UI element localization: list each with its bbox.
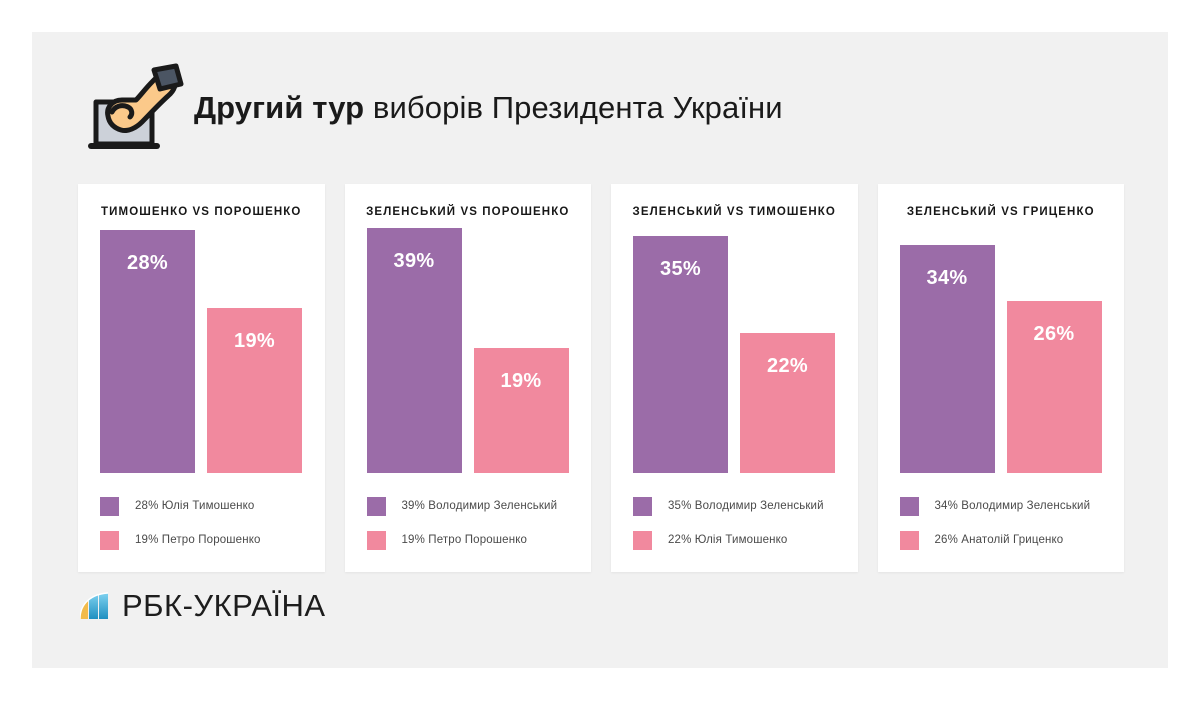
bar-rect-purple[interactable]: 34% <box>900 245 995 473</box>
bar-group: 34% <box>900 245 995 473</box>
legend-item: 19% Петро Порошенко <box>100 523 309 557</box>
legend: 34% Володимир Зеленський 26% Анатолій Гр… <box>900 489 1109 557</box>
bar-value-label: 35% <box>633 258 728 281</box>
legend-label: 26% Анатолій Гриценко <box>935 534 1064 546</box>
bar-rect-purple[interactable]: 39% <box>367 228 462 473</box>
legend-item: 39% Володимир Зеленський <box>367 489 576 523</box>
legend-label: 35% Володимир Зеленський <box>668 500 824 512</box>
panels-row: ТИМОШЕНКО VS ПОРОШЕНКО 28% 19% <box>78 184 1124 572</box>
ballot-box-hand-icon <box>80 60 184 156</box>
legend-swatch-pink <box>633 531 652 550</box>
logo-text: РБК-УКРАЇНА <box>122 588 326 624</box>
bar-chart: 35% 22% <box>633 228 836 473</box>
panel-zelensky-vs-poroshenko: ЗЕЛЕНСЬКИЙ VS ПОРОШЕНКО 39% 19% <box>345 184 592 572</box>
bar-group: 26% <box>1007 301 1102 473</box>
bar-group: 19% <box>207 308 302 473</box>
bar-value-label: 34% <box>900 267 995 290</box>
panel-title: ТИМОШЕНКО VS ПОРОШЕНКО <box>78 206 325 218</box>
legend: 35% Володимир Зеленський 22% Юлія Тимоше… <box>633 489 842 557</box>
bar-rect-pink[interactable]: 22% <box>740 333 835 473</box>
page-title-rest: виборів Президента України <box>364 90 782 125</box>
legend-label: 39% Володимир Зеленський <box>402 500 558 512</box>
bar-rect-purple[interactable]: 35% <box>633 236 728 473</box>
bar-value-label: 28% <box>100 252 195 275</box>
legend-swatch-pink <box>367 531 386 550</box>
legend-item: 19% Петро Порошенко <box>367 523 576 557</box>
bar-group: 35% <box>633 236 728 473</box>
legend: 28% Юлія Тимошенко 19% Петро Порошенко <box>100 489 309 557</box>
panel-tymoshenko-vs-poroshenko: ТИМОШЕНКО VS ПОРОШЕНКО 28% 19% <box>78 184 325 572</box>
bar-value-label: 19% <box>207 330 302 353</box>
legend-swatch-purple <box>900 497 919 516</box>
infographic-canvas: Другий тур виборів Президента України ТИ… <box>32 32 1168 668</box>
legend-label: 19% Петро Порошенко <box>135 534 261 546</box>
bar-rect-pink[interactable]: 19% <box>207 308 302 473</box>
bar-rect-pink[interactable]: 26% <box>1007 301 1102 473</box>
infographic-header: Другий тур виборів Президента України <box>32 32 1168 184</box>
bar-value-label: 39% <box>367 250 462 273</box>
panel-zelensky-vs-grytsenko: ЗЕЛЕНСЬКИЙ VS ГРИЦЕНКО 34% 26% <box>878 184 1125 572</box>
legend-label: 19% Петро Порошенко <box>402 534 528 546</box>
legend-swatch-pink <box>900 531 919 550</box>
page-title: Другий тур виборів Президента України <box>194 90 783 126</box>
legend-swatch-purple <box>633 497 652 516</box>
bar-value-label: 19% <box>474 370 569 393</box>
bar-group: 28% <box>100 230 195 473</box>
rbc-ukraine-logo-icon <box>80 591 110 621</box>
bar-rect-pink[interactable]: 19% <box>474 348 569 473</box>
bar-group: 39% <box>367 228 462 473</box>
page-title-strong: Другий тур <box>194 90 364 125</box>
legend-label: 22% Юлія Тимошенко <box>668 534 787 546</box>
bar-chart: 28% 19% <box>100 228 303 473</box>
bar-chart: 39% 19% <box>367 228 570 473</box>
legend-item: 35% Володимир Зеленський <box>633 489 842 523</box>
panel-zelensky-vs-tymoshenko: ЗЕЛЕНСЬКИЙ VS ТИМОШЕНКО 35% 22% <box>611 184 858 572</box>
legend-item: 34% Володимир Зеленський <box>900 489 1109 523</box>
bar-value-label: 22% <box>740 355 835 378</box>
legend-swatch-purple <box>367 497 386 516</box>
bar-group: 19% <box>474 348 569 473</box>
legend-label: 34% Володимир Зеленський <box>935 500 1091 512</box>
bar-rect-purple[interactable]: 28% <box>100 230 195 473</box>
panel-title: ЗЕЛЕНСЬКИЙ VS ТИМОШЕНКО <box>611 206 858 218</box>
panel-title: ЗЕЛЕНСЬКИЙ VS ПОРОШЕНКО <box>345 206 592 218</box>
legend-item: 22% Юлія Тимошенко <box>633 523 842 557</box>
legend-swatch-pink <box>100 531 119 550</box>
footer-branding: РБК-УКРАЇНА <box>80 588 326 624</box>
legend-label: 28% Юлія Тимошенко <box>135 500 254 512</box>
bar-group: 22% <box>740 333 835 473</box>
legend-item: 28% Юлія Тимошенко <box>100 489 309 523</box>
bar-value-label: 26% <box>1007 323 1102 346</box>
legend-swatch-purple <box>100 497 119 516</box>
legend: 39% Володимир Зеленський 19% Петро Порош… <box>367 489 576 557</box>
bar-chart: 34% 26% <box>900 228 1103 473</box>
panel-title: ЗЕЛЕНСЬКИЙ VS ГРИЦЕНКО <box>878 206 1125 218</box>
legend-item: 26% Анатолій Гриценко <box>900 523 1109 557</box>
